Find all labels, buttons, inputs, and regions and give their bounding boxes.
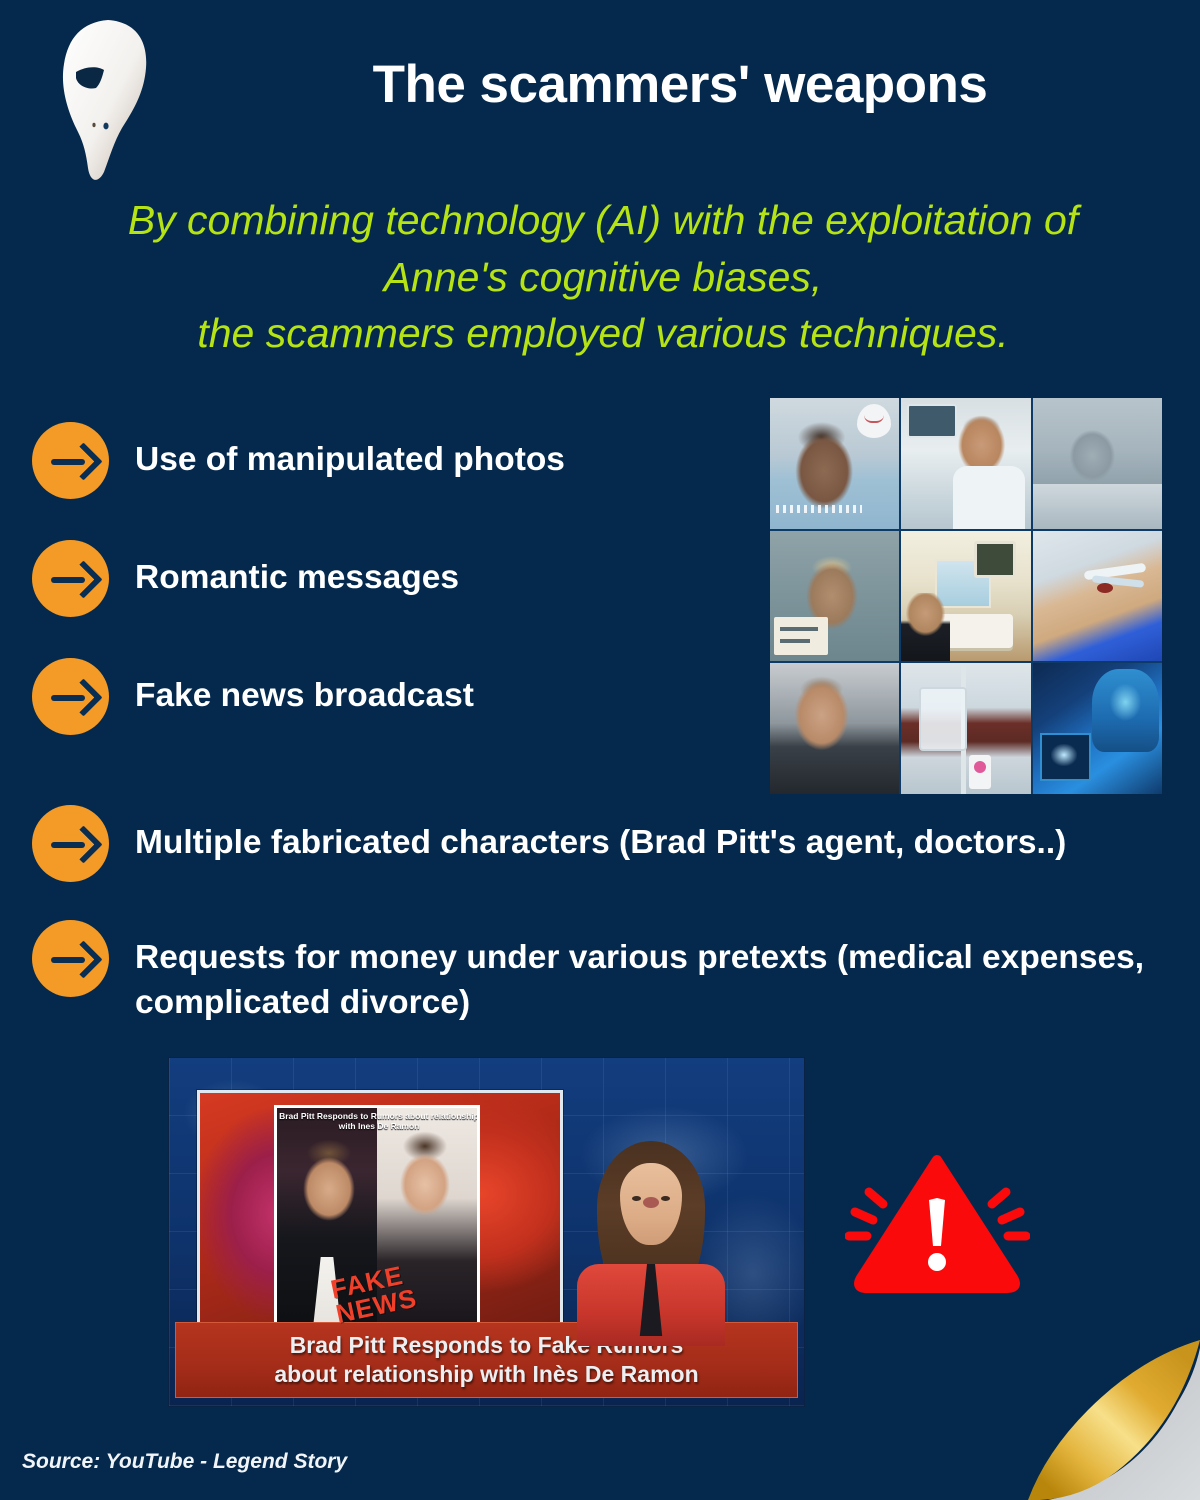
wound-shape [1097, 583, 1113, 593]
monitor-icon [974, 541, 1016, 578]
person-shape [901, 593, 950, 661]
operating-monitor-icon [1040, 733, 1091, 781]
hospital-gown-shape [953, 466, 1025, 529]
arrow-right-icon [32, 805, 109, 882]
iv-bag-shape [919, 687, 967, 751]
collage-photo-7 [770, 663, 899, 794]
manipulated-photos-collage [770, 398, 1162, 794]
inner-screen-caption: Brad Pitt Responds to Rumors about relat… [277, 1108, 480, 1135]
arrow-right-icon [32, 540, 109, 617]
arrow-right-icon [32, 422, 109, 499]
inner-photo: Brad Pitt Responds to Rumors about relat… [274, 1105, 480, 1336]
list-item: Requests for money under various pretext… [32, 920, 1182, 1025]
fake-news-broadcast-still: Brad Pitt Responds to Rumors about relat… [168, 1057, 805, 1407]
collage-photo-5 [901, 531, 1030, 662]
list-item-label: Use of manipulated photos [135, 422, 565, 482]
subtitle-block: By combining technology (AI) with the ex… [48, 192, 1158, 362]
collage-photo-3 [1033, 398, 1162, 529]
news-anchor [576, 1141, 726, 1346]
hospital-bed-shape [1033, 484, 1162, 528]
arrow-right-icon [32, 920, 109, 997]
page-title: The scammers' weapons [200, 56, 1160, 114]
list-item: Multiple fabricated characters (Brad Pit… [32, 805, 1182, 882]
collage-photo-9 [1033, 663, 1162, 794]
surgeon-shape [1092, 669, 1159, 753]
source-caption: Source: YouTube - Legend Story [22, 1450, 347, 1474]
collage-photo-1 [770, 398, 899, 529]
list-item-label: Requests for money under various pretext… [135, 920, 1165, 1025]
warning-triangle-icon [845, 1150, 1030, 1295]
heart-sticker-icon [857, 404, 891, 438]
collage-photo-4 [770, 531, 899, 662]
subtitle-line-2: Anne's cognitive biases, [48, 249, 1158, 306]
handwriting-overlay [776, 505, 862, 513]
subtitle-line-3: the scammers employed various techniques… [48, 305, 1158, 362]
handwritten-sign [774, 617, 828, 655]
subtitle-line-1: By combining technology (AI) with the ex… [48, 192, 1158, 249]
list-item-label: Multiple fabricated characters (Brad Pit… [135, 805, 1066, 865]
collage-photo-6 [1033, 531, 1162, 662]
collage-photo-2 [901, 398, 1030, 529]
banner-line-2: about relationship with Inès De Ramon [274, 1360, 698, 1389]
studio-screen: Brad Pitt Responds to Rumors about relat… [197, 1090, 563, 1348]
list-item-label: Fake news broadcast [135, 658, 474, 718]
anchor-mouth [643, 1197, 659, 1208]
collage-photo-8 [901, 663, 1030, 794]
anchor-jacket [577, 1264, 725, 1346]
list-item-label: Romantic messages [135, 540, 459, 600]
infographic-poster: The scammers' weapons By combining techn… [0, 0, 1200, 1500]
label-tag-shape [969, 755, 991, 789]
monitor-icon [907, 404, 957, 438]
page-curl-corner [1028, 1332, 1200, 1500]
phantom-mask-icon [44, 16, 162, 184]
arrow-right-icon [32, 658, 109, 735]
